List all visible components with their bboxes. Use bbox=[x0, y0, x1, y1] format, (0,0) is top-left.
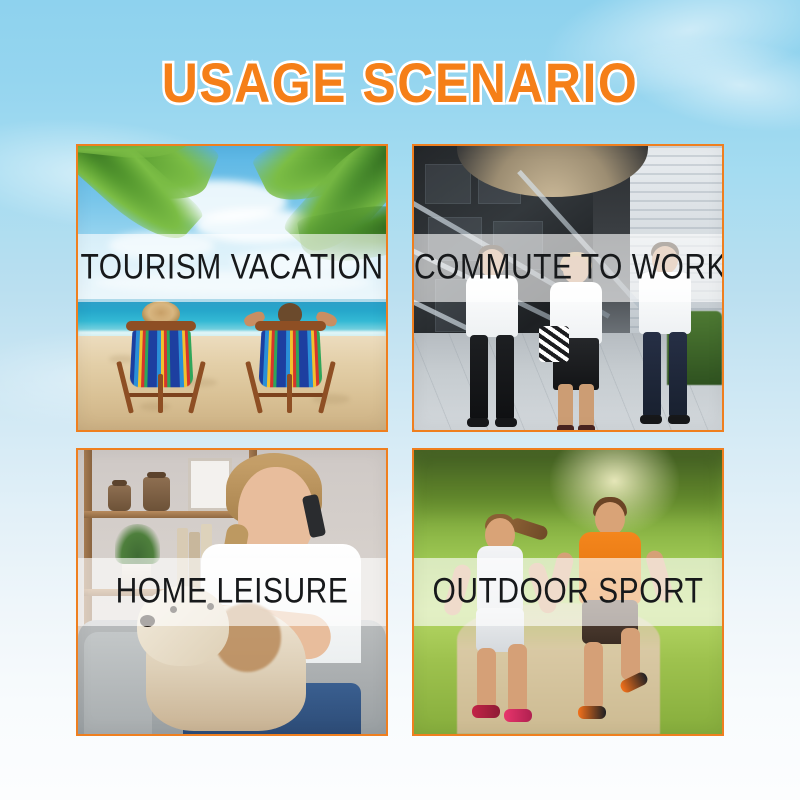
caption-band: OUTDOOR SPORT bbox=[414, 558, 722, 626]
glass-pane bbox=[425, 164, 471, 204]
page-title-wrap: USAGE SCENARIO bbox=[0, 58, 800, 108]
person-legs bbox=[643, 332, 687, 418]
chair-leg bbox=[158, 374, 163, 413]
person-leg bbox=[621, 628, 640, 680]
panel-caption: COMMUTE TO WORK bbox=[414, 248, 722, 287]
storage-jar bbox=[108, 485, 130, 512]
scenario-panel-home-leisure[interactable]: HOME LEISURE bbox=[76, 448, 388, 736]
person-shoe bbox=[578, 425, 595, 430]
caption-band: TOURISM VACATION bbox=[78, 234, 386, 302]
person-leg bbox=[584, 642, 603, 710]
running-shoe bbox=[578, 706, 606, 719]
person-head bbox=[595, 502, 625, 536]
person-leg bbox=[470, 335, 488, 421]
person-leg bbox=[477, 648, 496, 710]
beach-chair bbox=[121, 311, 201, 413]
scenario-panel-tourism-vacation[interactable]: TOURISM VACATION bbox=[76, 144, 388, 432]
caption-band: HOME LEISURE bbox=[78, 558, 386, 626]
person-leg bbox=[669, 332, 687, 418]
scenario-grid: TOURISM VACATION bbox=[76, 144, 724, 736]
person-legs bbox=[470, 335, 514, 421]
person-shoe bbox=[495, 418, 517, 427]
person-leg bbox=[579, 384, 594, 428]
running-shoe bbox=[504, 709, 532, 722]
jar-lid bbox=[147, 472, 166, 478]
person-leg bbox=[496, 335, 514, 421]
person-shoe bbox=[640, 415, 662, 424]
panel-caption: TOURISM VACATION bbox=[78, 248, 386, 287]
person-legs bbox=[554, 384, 598, 428]
scenario-panel-outdoor-sport[interactable]: OUTDOOR SPORT bbox=[412, 448, 724, 736]
jar-lid bbox=[112, 480, 128, 486]
handbag bbox=[539, 326, 569, 362]
person-shoe bbox=[668, 415, 690, 424]
page-title: USAGE SCENARIO bbox=[162, 55, 639, 111]
person-leg bbox=[558, 384, 573, 428]
storage-jar bbox=[143, 477, 171, 512]
panel-caption: HOME LEISURE bbox=[78, 572, 386, 611]
running-shoe bbox=[618, 671, 649, 695]
person-shoe bbox=[557, 425, 574, 430]
chair-leg bbox=[287, 374, 292, 413]
panel-caption: OUTDOOR SPORT bbox=[414, 572, 722, 611]
beach-chair bbox=[250, 311, 330, 413]
scenario-panel-commute-to-work[interactable]: COMMUTE TO WORK bbox=[412, 144, 724, 432]
caption-band: COMMUTE TO WORK bbox=[414, 234, 722, 302]
person-shoe bbox=[467, 418, 489, 427]
running-shoe bbox=[472, 705, 500, 718]
person-leg bbox=[508, 644, 527, 714]
person-leg bbox=[643, 332, 661, 418]
